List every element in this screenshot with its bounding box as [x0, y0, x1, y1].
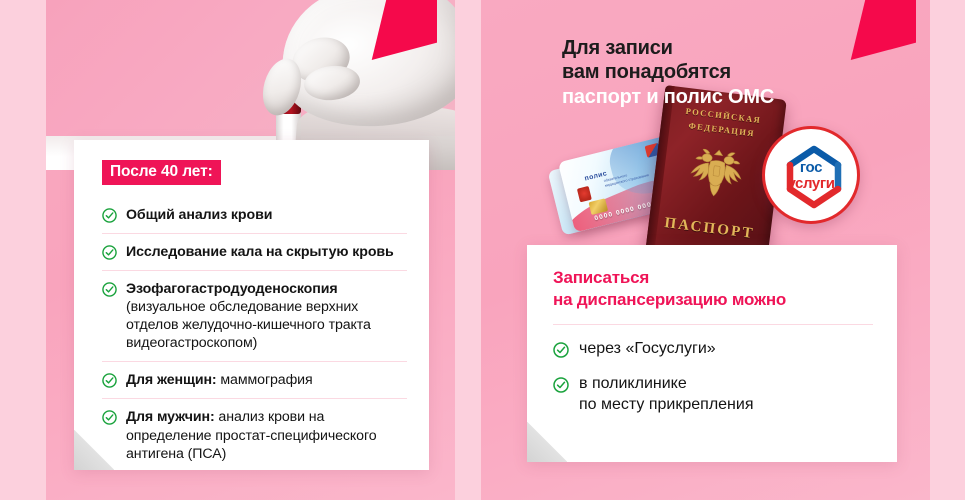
card-folded-corner [74, 430, 114, 470]
heading-line-2: вам понадобятся [562, 60, 774, 84]
register-title-line-1: Записаться [553, 267, 873, 289]
list-item-text: Для мужчин: анализ крови на определение … [126, 408, 407, 462]
list-item-bold: Эзофагогастродуоденоскопия [126, 281, 338, 297]
check-circle-icon [553, 342, 569, 358]
list-item: через «Госуслуги» [553, 325, 873, 360]
list-item: в поликлинике по месту прикрепления [553, 360, 873, 416]
heading-line-3: паспорт и полис ОМС [562, 85, 774, 109]
list-item-text: Для женщин: маммография [126, 371, 313, 389]
infographic-root: После 40 лет: Общий анализ крови [0, 0, 965, 500]
card-folded-corner [527, 422, 567, 462]
gosuslugi-logo: гос услуги [762, 126, 860, 224]
how-to-register-card: Записаться на диспансеризацию можно чере… [527, 245, 897, 462]
double-headed-eagle-icon [684, 141, 749, 210]
gosuslugi-line-1: гос [765, 160, 857, 175]
list-item-rest: (визуальное обследование верхних отделов… [126, 299, 371, 351]
right-panel: Для записи вам понадобятся паспорт и пол… [481, 0, 930, 500]
list-item: Исследование кала на скрытую кровь [102, 233, 407, 270]
list-item-text: Исследование кала на скрытую кровь [126, 243, 394, 261]
check-circle-icon [102, 410, 117, 425]
documents-photo: Для записи вам понадобятся паспорт и пол… [481, 0, 930, 275]
after-40-card: После 40 лет: Общий анализ крови [74, 140, 429, 470]
right-edge-strip [930, 0, 965, 500]
list-item-line-2: по месту прикрепления [579, 395, 754, 416]
check-circle-icon [553, 377, 569, 393]
list-item-text: через «Госуслуги» [579, 339, 716, 360]
register-title: Записаться на диспансеризацию можно [553, 267, 873, 310]
left-edge-strip [0, 0, 46, 500]
list-item-bold: Для мужчин: [126, 409, 215, 425]
list-item: Для мужчин: анализ крови на определение … [102, 398, 407, 471]
list-item-bold: Для женщин: [126, 372, 217, 388]
panel-gap-strip [455, 0, 481, 500]
list-item-bold: Исследование кала на скрытую кровь [126, 244, 394, 260]
right-panel-heading: Для записи вам понадобятся паспорт и пол… [562, 36, 774, 109]
gosuslugi-wordmark: гос услуги [765, 160, 857, 191]
list-item-text: в поликлинике по месту прикрепления [579, 374, 754, 416]
heading-line-1: Для записи [562, 36, 774, 60]
list-item-text: Общий анализ крови [126, 206, 272, 224]
list-item-line-1: через «Госуслуги» [579, 339, 716, 360]
check-circle-icon [102, 373, 117, 388]
list-item: Эзофагогастродуоденоскопия(визуальное об… [102, 270, 407, 361]
gosuslugi-line-2: услуги [765, 176, 857, 191]
list-item-bold: Общий анализ крови [126, 207, 272, 223]
list-item-rest: маммография [217, 372, 313, 388]
after-40-badge: После 40 лет: [102, 160, 221, 185]
coat-of-arms-icon [577, 186, 592, 202]
list-item-text: Эзофагогастродуоденоскопия(визуальное об… [126, 280, 407, 352]
exam-list: Общий анализ крови Исследование кала на … [74, 185, 429, 471]
list-item: Для женщин: маммография [102, 361, 407, 398]
register-title-line-2: на диспансеризацию можно [553, 289, 873, 311]
check-circle-icon [102, 245, 117, 260]
check-circle-icon [102, 208, 117, 223]
polis-sublabel: обязательного медицинского страхования [603, 168, 650, 189]
check-circle-icon [102, 282, 117, 297]
passport-label: ПАСПОРТ [648, 213, 771, 245]
left-panel: После 40 лет: Общий анализ крови [46, 0, 455, 500]
list-item-line-1: в поликлинике [579, 374, 754, 395]
list-item: Общий анализ крови [102, 197, 407, 233]
